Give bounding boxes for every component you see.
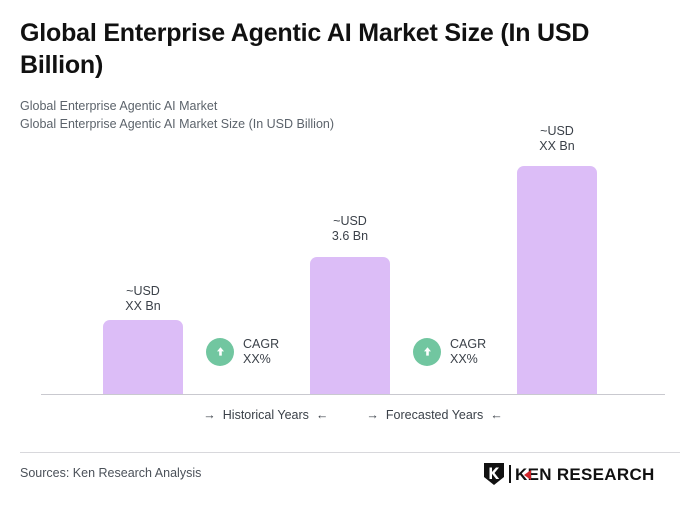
bar-forecast[interactable] [517, 166, 597, 395]
axis-captions: → Historical Years ← → Forecasted Years … [41, 408, 665, 422]
bar-label-3-line-1: ~USD [516, 124, 598, 139]
bar-base[interactable] [310, 257, 390, 395]
cagr-forecast-line-2: XX% [450, 352, 478, 366]
logo-text: KEN RESEARCH [515, 466, 655, 483]
bar-label-1-line-2: XX Bn [102, 299, 184, 314]
logo-text-label: KEN RESEARCH [515, 465, 655, 484]
arrow-right-icon: → [366, 409, 379, 422]
bar-label-1-line-1: ~USD [102, 284, 184, 299]
cagr-forecast-line-1: CAGR [450, 337, 486, 351]
chart-baseline [41, 394, 665, 395]
cagr-historical-line-2: XX% [243, 352, 271, 366]
cagr-badge-historical-text: CAGR XX% [243, 337, 279, 366]
bar-label-3-line-2: XX Bn [516, 139, 598, 154]
cagr-historical-line-1: CAGR [243, 337, 279, 351]
bar-label-3: ~USD XX Bn [516, 124, 598, 153]
sources-text: Sources: Ken Research Analysis [20, 466, 201, 480]
axis-caption-forecasted: → Forecasted Years ← [366, 408, 502, 422]
arrow-left-icon: ← [316, 409, 329, 422]
axis-caption-forecasted-label: Forecasted Years [386, 408, 483, 422]
arrow-right-icon: → [203, 409, 216, 422]
ken-research-logo: KEN RESEARCH [483, 462, 655, 486]
axis-caption-historical: → Historical Years ← [203, 408, 328, 422]
logo-divider [509, 465, 511, 483]
bar-label-2: ~USD 3.6 Bn [309, 214, 391, 243]
footer-divider [20, 452, 680, 453]
shield-icon [483, 462, 505, 486]
cagr-badge-forecast-text: CAGR XX% [450, 337, 486, 366]
bar-label-1: ~USD XX Bn [102, 284, 184, 313]
bar-label-2-line-2: 3.6 Bn [309, 229, 391, 244]
cagr-badge-forecast: CAGR XX% [413, 337, 486, 366]
arrow-up-icon [413, 338, 441, 366]
arrow-left-icon: ← [490, 409, 503, 422]
triangle-accent-icon [524, 470, 531, 480]
bar-label-2-line-1: ~USD [309, 214, 391, 229]
cagr-badge-historical: CAGR XX% [206, 337, 279, 366]
arrow-up-icon [206, 338, 234, 366]
axis-caption-historical-label: Historical Years [223, 408, 309, 422]
bar-chart-plot: ~USD XX Bn CAGR XX% ~USD 3.6 Bn [0, 0, 700, 400]
bar-historical[interactable] [103, 320, 183, 395]
chart-card: Global Enterprise Agentic AI Market Size… [0, 0, 700, 520]
